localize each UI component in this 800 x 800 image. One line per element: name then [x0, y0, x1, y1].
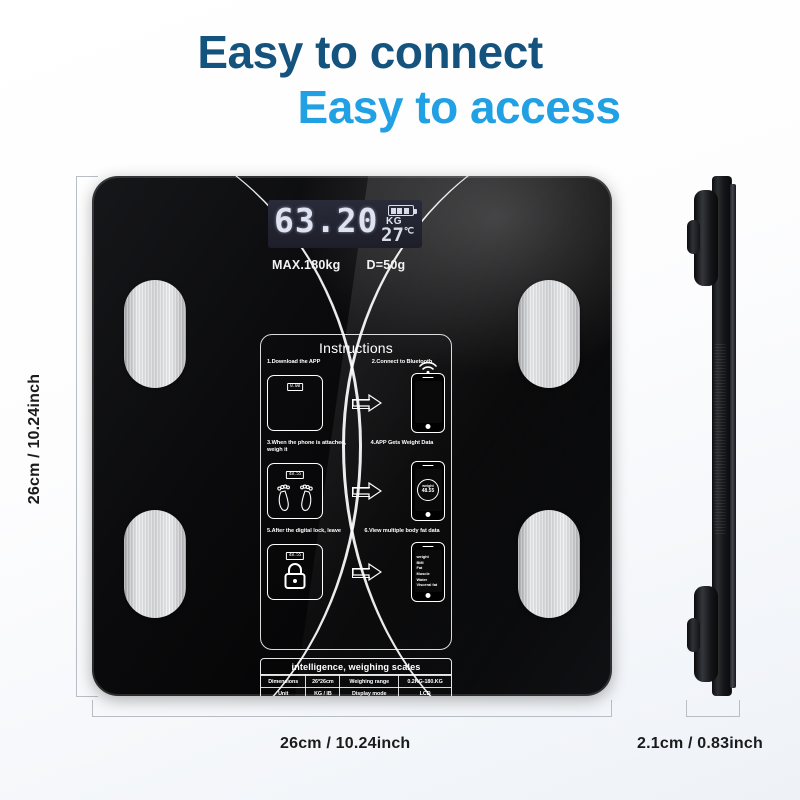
guide-line-horizontal-bottom [92, 716, 612, 717]
guide-tick-bottom-start [92, 700, 93, 717]
body-metric-list: weight BMI Fat Muscle Water Visceral fat [415, 554, 442, 588]
guide-tick-bottom-left [76, 696, 98, 697]
step-3-mini-display: 48.55 [286, 471, 304, 479]
padlock-scale-icon: 48.55 [267, 544, 323, 600]
instructions-panel: Instructions 1.Download the APP 2.Connec… [260, 334, 452, 650]
step-5-label: 5.After the digital lock, leave [267, 528, 353, 535]
headline-line-2: Easy to access [118, 83, 800, 132]
scale-platform-icon: 0.00 [267, 375, 323, 431]
side-glass-edge [730, 184, 736, 688]
arrow-right-icon-2 [352, 483, 382, 499]
lcd-caption: MAX.180kg D=50g [272, 258, 452, 272]
footprints-icon [275, 480, 315, 514]
headline-block: Easy to connect Easy to access [0, 28, 800, 132]
arrow-right-icon-1 [352, 395, 382, 411]
dimension-label-thickness: 2.1cm / 0.83inch [637, 735, 763, 753]
instruction-row-1: 1.Download the APP 2.Connect to Bluetoot… [267, 359, 445, 439]
division-label: D=50g [367, 258, 406, 272]
battery-icon [388, 205, 414, 216]
guide-tick-side-start [686, 700, 687, 717]
phone-weight-icon: weight 48.55 [411, 461, 445, 521]
dimension-label-width: 26cm / 10.24inch [280, 735, 410, 753]
step-4-label: 4.APP Gets Weight Data [359, 440, 445, 454]
spec-cell: Display mode [340, 688, 399, 696]
spec-cell: LCD [399, 688, 451, 696]
spec-cell: 26*26cm [306, 676, 340, 688]
spec-cell: KG / lB [306, 688, 340, 696]
spec-table-title: intelligence, weighing scales [261, 659, 451, 675]
arrow-right-icon-3 [352, 564, 382, 580]
padlock-icon [282, 562, 308, 595]
side-knob-bottom [687, 618, 700, 652]
lcd-temperature-symbol: ℃ [404, 227, 414, 237]
weight-badge-value: 48.55 [422, 489, 435, 494]
dimension-label-height: 26cm / 10.24inch [26, 374, 44, 504]
wifi-icon [418, 361, 438, 379]
electrode-pad-top-right [518, 280, 580, 388]
headline-line-1: Easy to connect [0, 28, 800, 77]
spec-cell: Weighing range [340, 676, 399, 688]
phone-wifi-icon [411, 373, 445, 433]
side-texture-strip [714, 344, 726, 534]
lcd-weight-value: 63.20 [274, 201, 378, 240]
step-1-mini-display: 0.00 [287, 383, 303, 391]
lcd-display: 63.20 KG 27℃ [268, 200, 422, 248]
table-row: Unit KG / lB Display mode LCD [261, 688, 451, 696]
guide-tick-side-end [739, 700, 740, 717]
table-row: Dimensions 26*26cm Weighing range 0.2KG-… [261, 676, 451, 688]
lcd-temperature-value: 27 [381, 224, 404, 246]
instruction-steps: 1.Download the APP 2.Connect to Bluetoot… [267, 359, 445, 608]
step-5-mini-display: 48.55 [286, 552, 304, 560]
electrode-pad-bottom-left [124, 510, 186, 618]
lcd-temperature: 27℃ [381, 224, 414, 246]
scale-top-view: 63.20 KG 27℃ MAX.180kg D=50g Instruction… [92, 176, 612, 696]
spec-table: intelligence, weighing scales Dimensions… [260, 658, 452, 696]
max-capacity-label: MAX.180kg [272, 258, 341, 272]
step-3-label: 3.When the phone is attached, weigh it [267, 440, 353, 454]
electrode-pad-bottom-right [518, 510, 580, 618]
phone-metrics-icon: weight BMI Fat Muscle Water Visceral fat [411, 542, 445, 602]
spec-cell: Dimensions [261, 676, 306, 688]
product-image-stage: Easy to connect Easy to access 26cm / 10… [0, 0, 800, 800]
guide-line-vertical-left [76, 176, 77, 696]
step-1-label: 1.Download the APP [267, 359, 353, 366]
instructions-title: Instructions [267, 340, 445, 356]
weight-badge: weight 48.55 [417, 479, 439, 501]
side-knob-top [687, 220, 700, 254]
guide-tick-top-left [76, 176, 98, 177]
spec-cell: Unit [261, 688, 306, 696]
step-6-label: 6.View multiple body fat data [359, 528, 445, 535]
instruction-row-3: 5.After the digital lock, leave 6.View m… [267, 528, 445, 608]
footprints-scale-icon: 48.55 [267, 463, 323, 519]
guide-tick-bottom-end [611, 700, 612, 717]
spec-cell: 0.2KG-180.KG [399, 676, 451, 688]
electrode-pad-top-left [124, 280, 186, 388]
guide-line-horizontal-side [686, 716, 740, 717]
instruction-row-2: 3.When the phone is attached, weigh it 4… [267, 440, 445, 527]
metric-item: Visceral fat [417, 582, 442, 588]
scale-side-view [690, 176, 736, 696]
